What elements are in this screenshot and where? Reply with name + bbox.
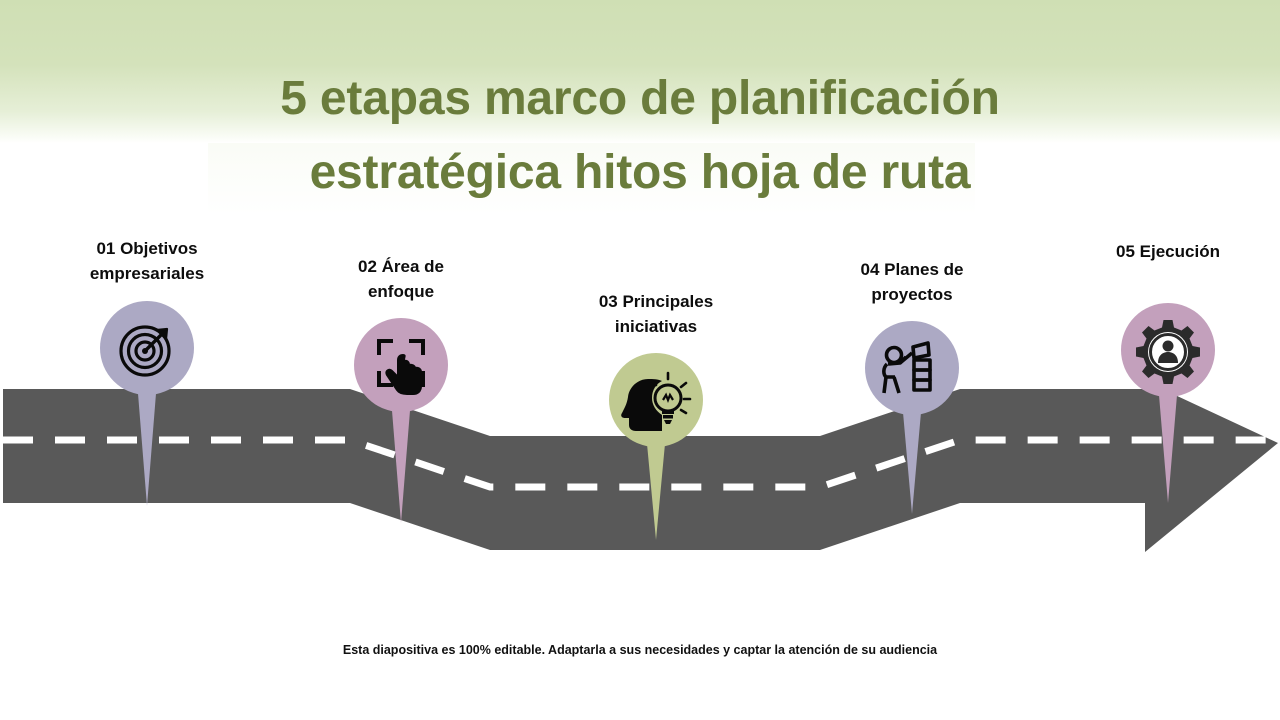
milestone-05-pin[interactable] [1108, 303, 1228, 513]
footer-note: Esta diapositiva es 100% editable. Adapt… [0, 643, 1280, 657]
target-arrow-icon [121, 327, 169, 375]
milestone-02-label: 02 Área de enfoque [301, 254, 501, 304]
pin-tail [1158, 383, 1178, 503]
milestone-03-label: 03 Principales iniciativas [556, 289, 756, 339]
milestone-02-pin[interactable] [341, 318, 461, 528]
milestone-04-pin[interactable] [852, 321, 972, 531]
pin-tail [391, 398, 411, 523]
milestone-04-label: 04 Planes de proyectos [812, 257, 1012, 307]
milestone-01-pin[interactable] [87, 301, 207, 511]
milestone-05-label: 05 Ejecución [1068, 239, 1268, 264]
pin-tail [902, 401, 922, 514]
pin-circle [865, 321, 959, 415]
pin-tail [646, 433, 666, 540]
gear-person-icon [1136, 320, 1200, 384]
slide-canvas: 5 etapas marco de planificación estratég… [0, 0, 1280, 720]
pin-tail [137, 381, 157, 506]
milestone-01-label: 01 Objetivos empresariales [47, 236, 247, 286]
milestone-03-pin[interactable] [596, 353, 716, 563]
